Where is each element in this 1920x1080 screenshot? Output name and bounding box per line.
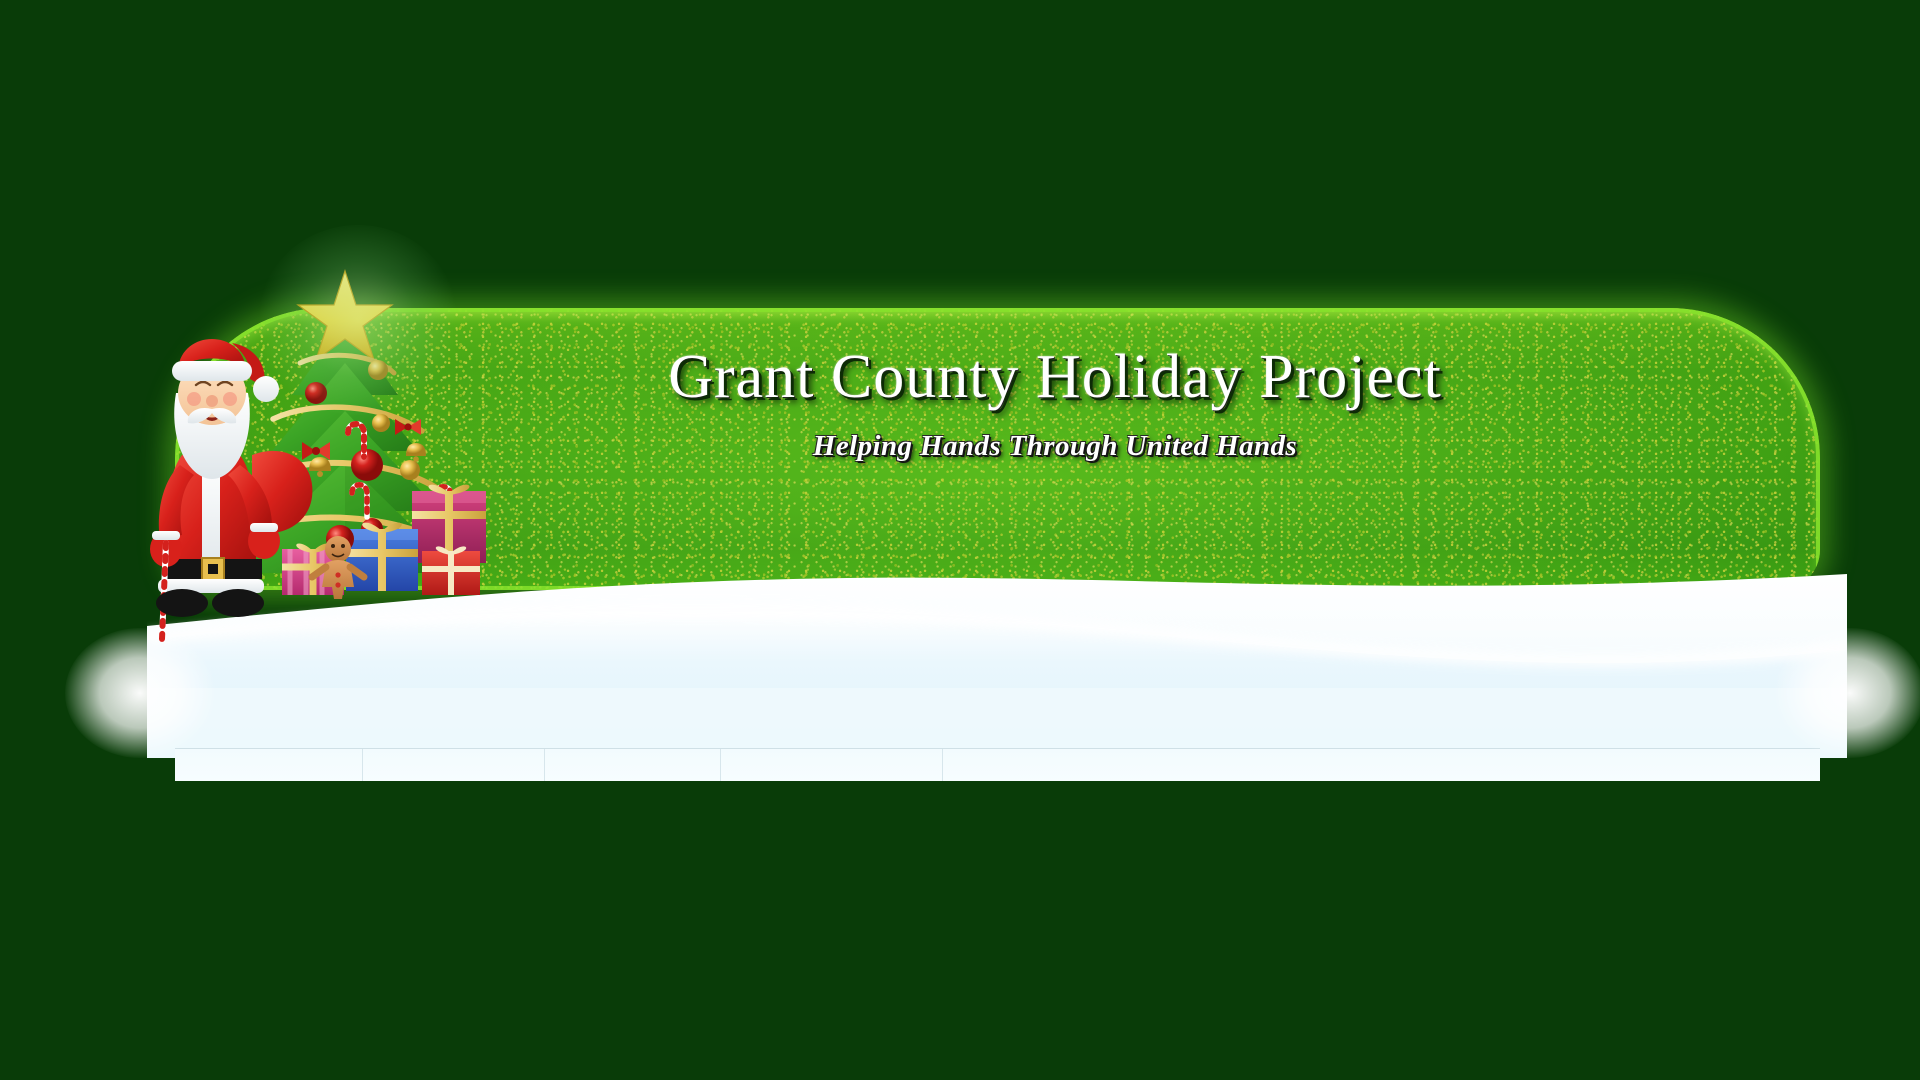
santa-hat-brim (172, 361, 252, 381)
nav-cell-5[interactable] (943, 749, 1820, 781)
page-tagline: Helping Hands Through United Hands (495, 430, 1615, 463)
nav-cell-1[interactable] (175, 749, 363, 781)
nav-bar[interactable] (175, 748, 1820, 781)
ornament-gold (368, 360, 388, 380)
page-root: Grant County Holiday Project Helping Han… (0, 0, 1920, 1080)
ornament-gold (372, 414, 390, 432)
banner-text-block: Grant County Holiday Project Helping Han… (495, 346, 1615, 463)
santa-boot (156, 589, 208, 617)
santa-hat-pompom (253, 376, 279, 402)
site-banner: Grant County Holiday Project Helping Han… (175, 308, 1820, 793)
santa-boot (212, 589, 264, 617)
ornament-gold (400, 460, 420, 480)
page-title: Grant County Holiday Project (495, 346, 1615, 408)
ornament-red (305, 382, 327, 404)
tree-bell (406, 443, 426, 462)
nav-cell-3[interactable] (545, 749, 721, 781)
nav-cell-2[interactable] (363, 749, 545, 781)
nav-cell-4[interactable] (721, 749, 943, 781)
